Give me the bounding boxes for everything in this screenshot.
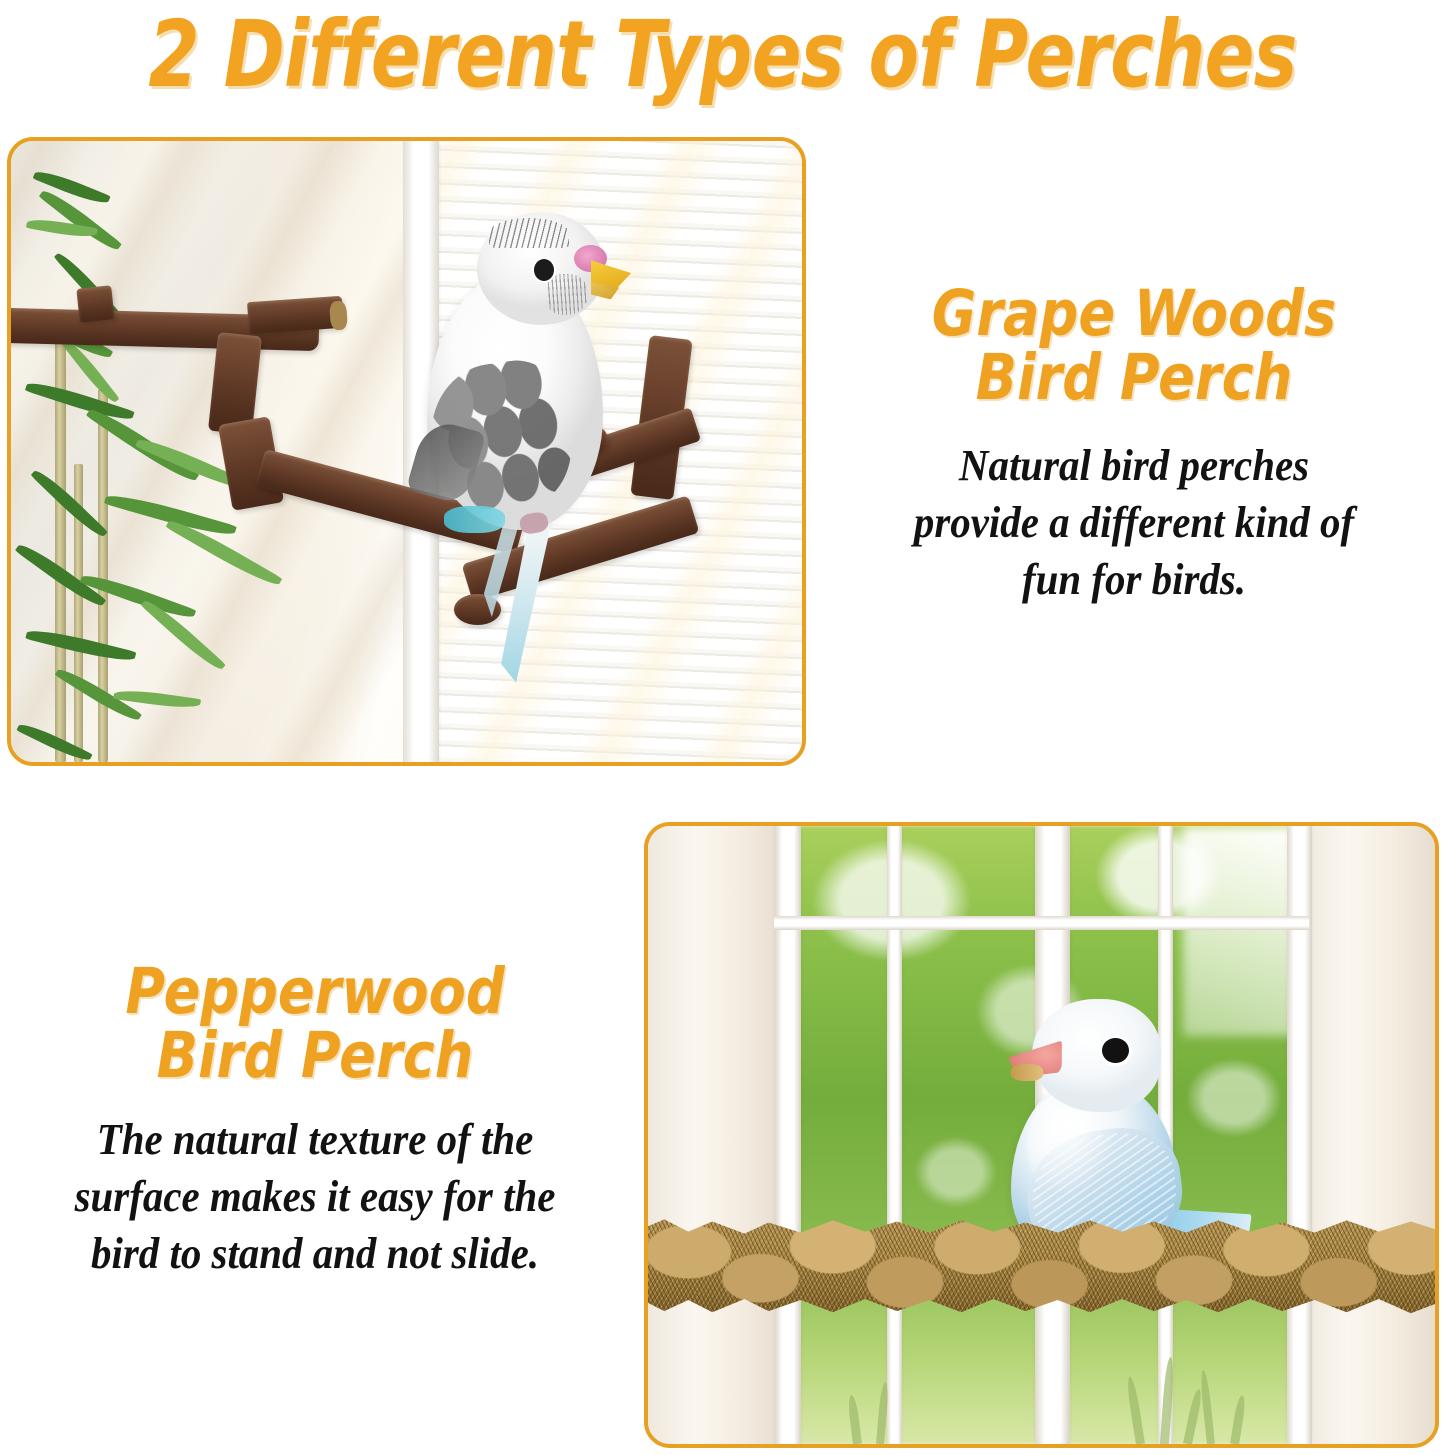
bird-crown-markings: [489, 218, 570, 249]
bird-lower-beak: [1011, 1064, 1043, 1080]
page-title: 2 Different Types of Perches: [145, 2, 1301, 106]
budgie-bird: [410, 212, 647, 554]
bird-eye: [1102, 1038, 1129, 1063]
bird-eye: [534, 259, 554, 281]
grape-woods-heading: Grape Woods Bird Perch: [869, 282, 1399, 411]
photo-inner-top: [11, 141, 802, 762]
bird-teal-patch: [444, 506, 506, 533]
photo-inner-bottom: [648, 826, 1435, 1444]
pepperwood-heading: Pepperwood Bird Perch: [49, 960, 580, 1089]
pepperwood-description: The natural texture of the surface makes…: [28, 1111, 603, 1283]
grape-woods-description: Natural bird perches provide a different…: [848, 437, 1421, 609]
grape-woods-text-block: Grape Woods Bird Perch Natural bird perc…: [826, 282, 1442, 608]
grape-woods-perch-photo: [7, 137, 806, 766]
pepperwood-perch-photo: [644, 822, 1439, 1448]
pepperwood-text-block: Pepperwood Bird Perch The natural textur…: [6, 960, 624, 1282]
bird-cheek-markings: [546, 274, 589, 315]
